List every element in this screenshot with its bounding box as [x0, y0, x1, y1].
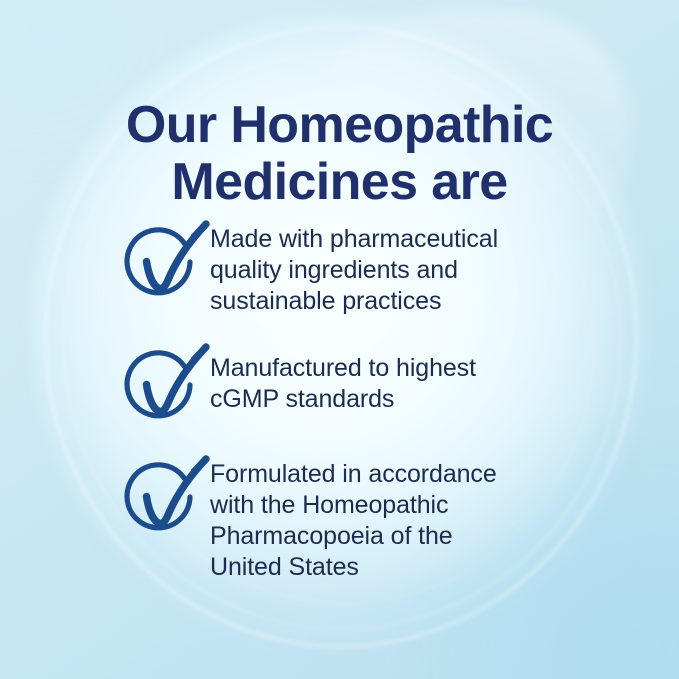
poster-content: Our Homeopathic Medicines are Made with …: [0, 0, 679, 679]
list-item-line: Pharmacopoeia of the: [210, 521, 592, 552]
page-title-line-1: Our Homeopathic: [36, 97, 643, 154]
list-item-line: United States: [210, 552, 592, 583]
list-item-line: quality ingredients and: [210, 255, 592, 286]
list-item-line: Manufactured to highest: [210, 353, 592, 384]
check-circle-icon: [118, 453, 210, 541]
list-item-line: sustainable practices: [210, 286, 592, 317]
list-item-text: Made with pharmaceutical quality ingredi…: [210, 218, 592, 317]
list-item-text: Formulated in accordance with the Homeop…: [210, 453, 592, 583]
list-item: Formulated in accordance with the Homeop…: [122, 453, 592, 583]
marketing-poster: Our Homeopathic Medicines are Made with …: [0, 0, 679, 679]
list-item-line: Formulated in accordance: [210, 459, 592, 490]
page-title: Our Homeopathic Medicines are: [0, 97, 679, 211]
check-circle-icon: [118, 341, 210, 429]
list-item-line: with the Homeopathic: [210, 490, 592, 521]
benefits-list: Made with pharmaceutical quality ingredi…: [122, 218, 592, 583]
list-item: Made with pharmaceutical quality ingredi…: [122, 218, 592, 317]
check-circle-icon: [118, 218, 210, 306]
list-item-text: Manufactured to highest cGMP standards: [210, 341, 592, 415]
page-title-line-2: Medicines are: [36, 154, 643, 211]
list-item: Manufactured to highest cGMP standards: [122, 341, 592, 429]
list-item-line: cGMP standards: [210, 384, 592, 415]
list-item-line: Made with pharmaceutical: [210, 224, 592, 255]
